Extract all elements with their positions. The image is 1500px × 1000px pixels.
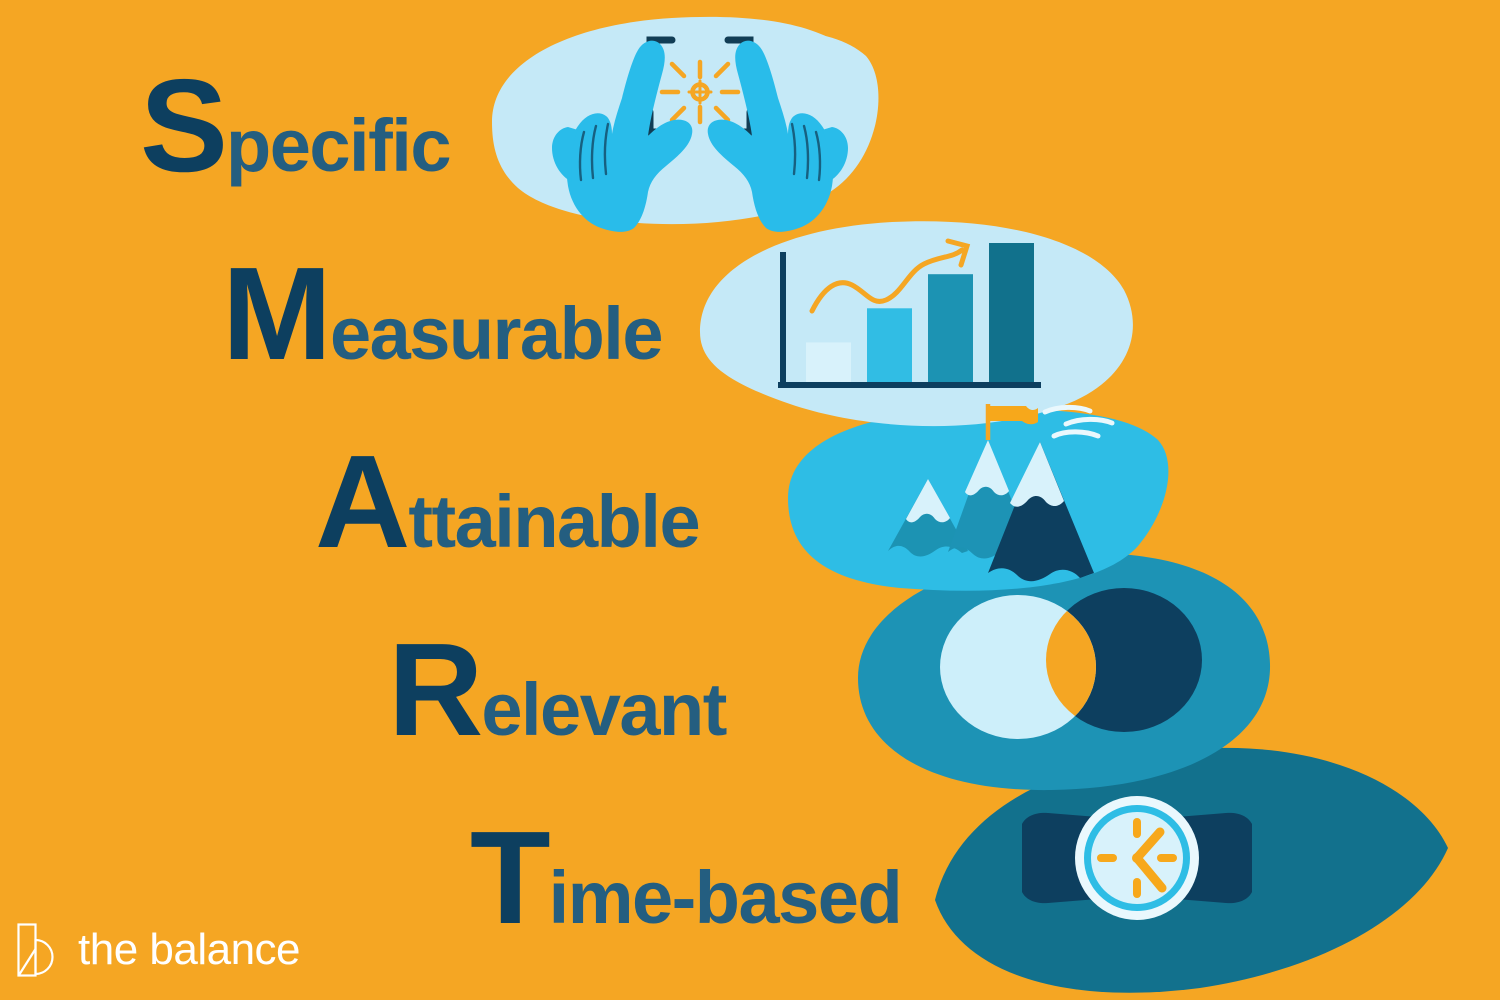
the-balance-logomark [16,922,62,978]
acronym-row-specific: Specific [140,60,450,192]
acronym-word-measurable: easurable [330,292,662,375]
brand-logo[interactable]: the balance [16,922,300,978]
acronym-row-time-based: Time-based [470,812,901,944]
acronym-capital-t: T [470,804,549,951]
bar-2 [867,308,912,385]
acronym-capital-a: A [315,428,408,575]
bar-4 [989,243,1034,385]
acronym-capital-r: R [388,616,481,763]
venn-diagram-icon [940,588,1202,739]
brand-wordmark: the balance [78,928,300,972]
blob-measurable [700,221,1133,426]
acronym-word-specific: pecific [226,104,450,187]
wristwatch-clock-icon [1022,796,1252,920]
acronym-row-measurable: Measurable [222,248,662,380]
bar-1 [806,342,851,385]
smart-goals-infographic: Specific Measurable Attainable Relevant … [0,0,1500,1000]
bar-3 [928,274,973,385]
acronym-row-attainable: Attainable [315,436,699,568]
acronym-capital-s: S [140,52,226,199]
acronym-word-attainable: ttainable [408,480,699,563]
acronym-row-relevant: Relevant [388,624,726,756]
acronym-word-time-based: ime-based [549,856,902,939]
acronym-word-relevant: elevant [481,668,726,751]
acronym-capital-m: M [222,240,330,387]
